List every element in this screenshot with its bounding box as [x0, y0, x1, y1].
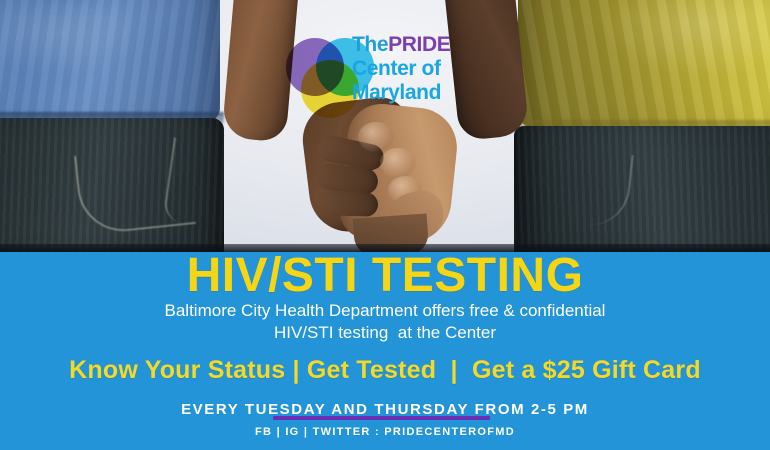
logo-wordmark: ThePRIDE Center of Maryland: [352, 34, 502, 103]
purple-divider: [273, 416, 490, 420]
hero-photo: ThePRIDE Center of Maryland: [0, 0, 770, 252]
knuckle-2: [380, 148, 416, 178]
logo-line-3: Maryland: [352, 82, 502, 103]
subtitle-line-1: Baltimore City Health Department offers …: [0, 300, 770, 322]
right-person-shirt: [518, 0, 770, 128]
right-person-figure: [510, 0, 770, 252]
knuckle-1: [358, 122, 394, 152]
subtitle-line-2: HIV/STI testing at the Center: [0, 322, 770, 344]
info-banner: HIV/STI TESTING Baltimore City Health De…: [0, 252, 770, 450]
pride-center-logo: ThePRIDE Center of Maryland: [286, 34, 498, 120]
logo-word-the: The: [352, 33, 388, 56]
left-person-shirt: [0, 0, 220, 122]
logo-word-pride: PRIDE: [388, 33, 450, 56]
headline: HIV/STI TESTING: [0, 248, 770, 303]
call-to-action: Know Your Status | Get Tested | Get a $2…: [0, 356, 770, 385]
social-handles: FB | IG | TWITTER : PRIDECENTEROFMD: [0, 426, 770, 438]
logo-line-1: ThePRIDE: [352, 34, 502, 55]
yellow-circle-icon: [301, 60, 359, 118]
finger-3: [322, 191, 379, 217]
left-person-figure: [0, 0, 242, 252]
logo-line-2: Center of: [352, 58, 502, 79]
poster-root: ThePRIDE Center of Maryland HIV/STI TEST…: [0, 0, 770, 450]
